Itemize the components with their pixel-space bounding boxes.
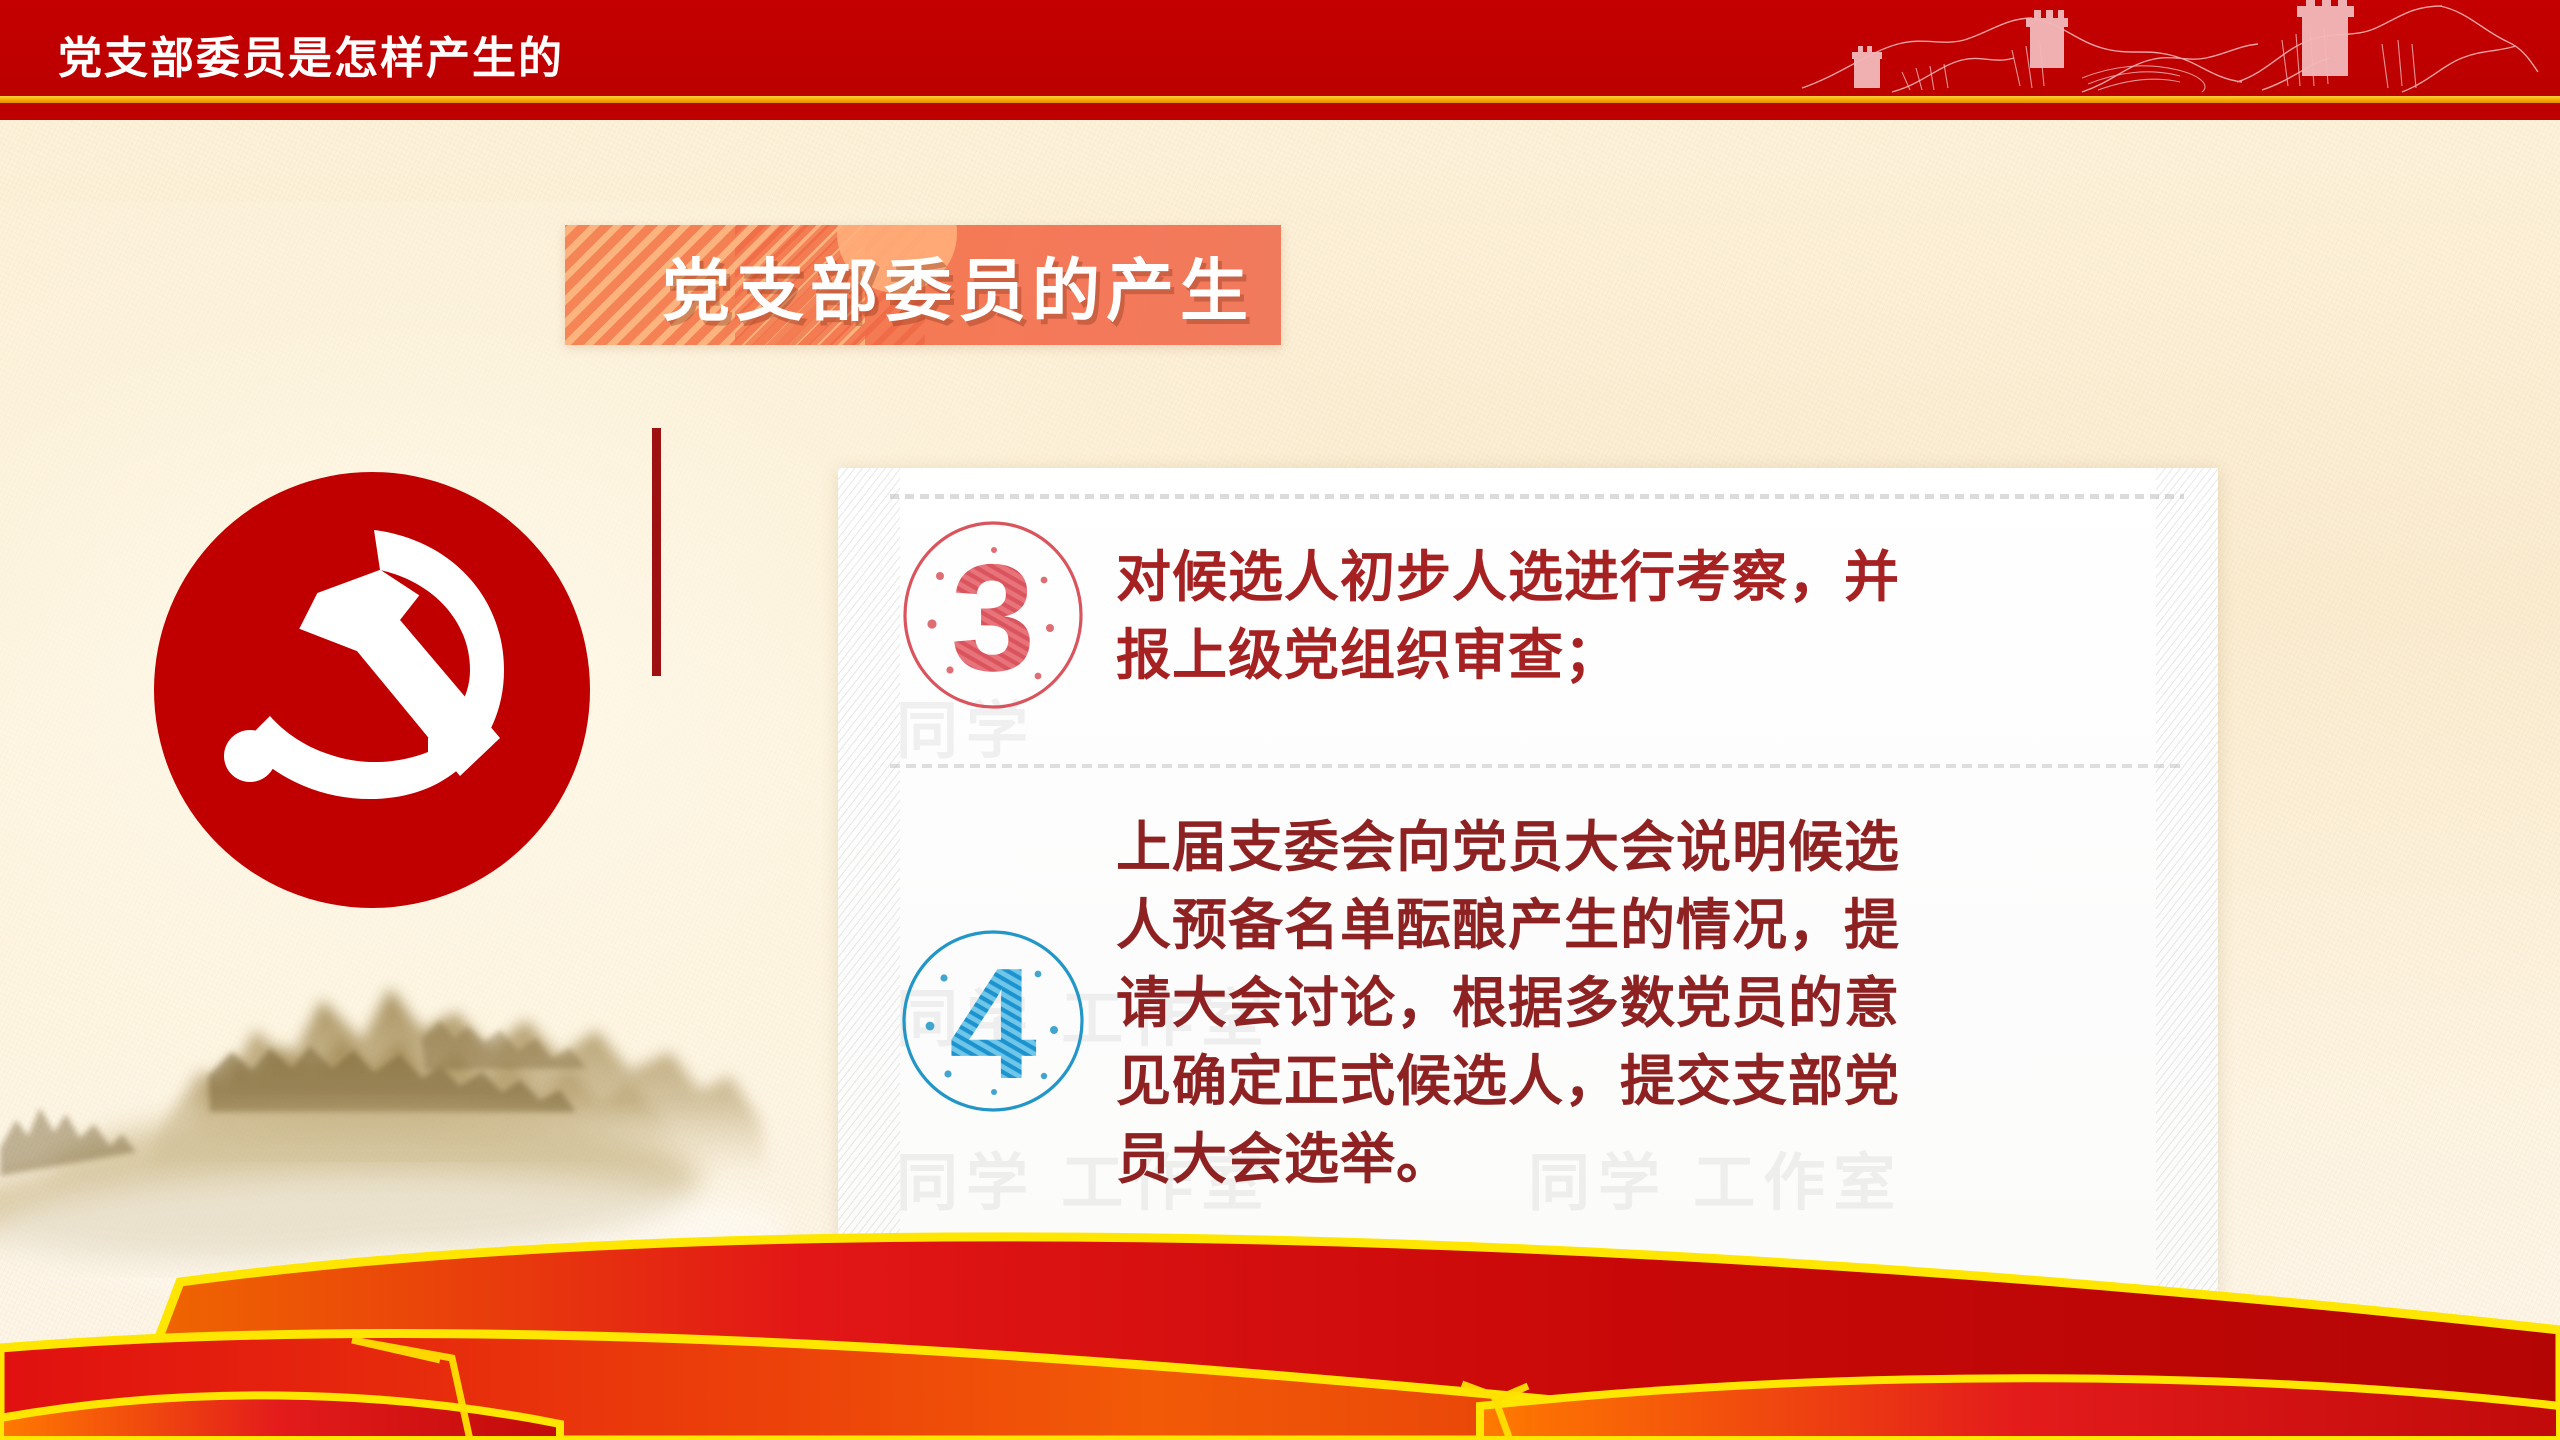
presentation-slide: 党支部委员是怎样产生的 <box>0 0 2560 1440</box>
header-divider-rule <box>0 96 2560 103</box>
great-wall-icon <box>1782 0 2542 96</box>
list-item: 4 上届支委会向党员大会说明候选 人预备名单酝酿产生的情况，提 请大会讨论，根据… <box>898 808 1900 1198</box>
section-title: 党支部委员的产生 <box>565 236 1281 335</box>
card-right-edge-texture <box>2156 468 2218 1298</box>
slide-header: 党支部委员是怎样产生的 <box>0 0 2560 108</box>
number-four-icon: 4 <box>898 926 1088 1116</box>
content-card: 同学 同学 工作室 同学 工作室 同学 工作室 <box>838 468 2218 1298</box>
header-bottom-band <box>0 103 2560 120</box>
svg-text:3: 3 <box>951 533 1036 703</box>
card-left-edge-texture <box>838 468 900 1298</box>
vertical-divider <box>652 428 661 676</box>
svg-text:4: 4 <box>949 936 1037 1112</box>
step-number-badge-3: 3 <box>898 520 1088 710</box>
card-top-rule <box>890 494 2184 499</box>
list-item: 3 对候选人初步人选进行考察，并 报上级党组织审查； <box>898 514 1900 710</box>
page-title: 党支部委员是怎样产生的 <box>58 22 564 86</box>
list-item-text: 对候选人初步人选进行考察，并 报上级党组织审查； <box>1116 538 1900 694</box>
list-item-text: 上届支委会向党员大会说明候选 人预备名单酝酿产生的情况，提 请大会讨论，根据多数… <box>1116 808 1900 1198</box>
section-banner: 党支部委员的产生 <box>565 225 1281 345</box>
cpc-emblem-icon <box>152 470 592 910</box>
number-three-icon: 3 <box>898 520 1088 710</box>
card-item-separator <box>890 764 2180 768</box>
step-number-badge-4: 4 <box>898 926 1088 1116</box>
